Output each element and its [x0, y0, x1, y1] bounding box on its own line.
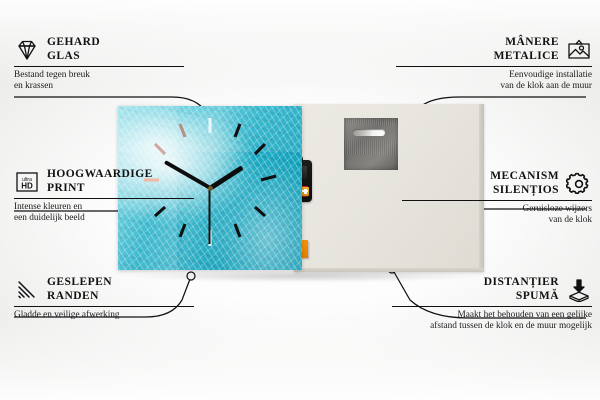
metal-hanger-plate [344, 118, 398, 170]
feature-desc-line2: van de klok [402, 215, 592, 226]
feature-desc-line1: Maakt het behouden van een gelijke [392, 310, 592, 321]
feature-desc-line1: Eenvoudige installatie [396, 70, 592, 81]
feature-description: Gladde en veilige afwerking [14, 310, 194, 321]
feature-header: MÂNERE METALICE [396, 36, 592, 63]
feature-title: HOOGWAARDIGE PRINT [47, 168, 153, 195]
feature-title-line1: GESLEPEN [47, 276, 112, 290]
feature-title: MÂNERE METALICE [494, 36, 559, 63]
feature-mecanism-silentios: MECANISM SILENȚIOS Geruisloze wijzers va… [402, 170, 592, 227]
feature-divider [396, 66, 592, 67]
feature-desc-line2: een duidelijk beeld [14, 213, 194, 224]
spacer-press-icon [566, 278, 592, 302]
feature-description: Maakt het behouden van een gelijke afsta… [392, 310, 592, 333]
feature-divider [14, 306, 194, 307]
feature-title-line2: SILENȚIOS [490, 184, 559, 198]
feature-divider [14, 198, 194, 199]
feature-divider [14, 66, 184, 67]
feature-title-line2: PRINT [47, 182, 153, 196]
feature-desc-line2: afstand tussen de klok en de muur mogeli… [392, 321, 592, 332]
feature-header: MECANISM SILENȚIOS [402, 170, 592, 197]
feature-desc-line2: en krassen [14, 81, 184, 92]
feature-desc-line1: Geruisloze wijzers [402, 204, 592, 215]
picture-frame-icon [566, 38, 592, 62]
feature-title-line1: DISTANȚIER [484, 276, 559, 290]
feature-title-line2: RANDEN [47, 290, 112, 304]
feature-title: DISTANȚIER SPUMĂ [484, 276, 559, 303]
infographic-canvas: GEHARD GLAS Bestand tegen breuk en krass… [0, 0, 600, 400]
feature-gehard-glas: GEHARD GLAS Bestand tegen breuk en krass… [14, 36, 184, 93]
feature-header: GEHARD GLAS [14, 36, 184, 63]
bevelled-edges-icon [14, 278, 40, 302]
feature-title-line1: MÂNERE [494, 36, 559, 50]
feature-header: ultra HD HOOGWAARDIGE PRINT [14, 168, 194, 195]
feature-desc-line2: van de klok aan de muur [396, 81, 592, 92]
feature-title-line1: MECANISM [490, 170, 559, 184]
feature-title-line2: GLAS [47, 50, 100, 64]
feature-description: Intense kleuren en een duidelijk beeld [14, 202, 194, 225]
gear-icon [566, 172, 592, 196]
feature-distantier-spuma: DISTANȚIER SPUMĂ Maakt het behouden van … [392, 276, 592, 333]
feature-manere-metalice: MÂNERE METALICE Eenvoudige installatie v… [396, 36, 592, 93]
feature-description: Eenvoudige installatie van de klok aan d… [396, 70, 592, 93]
feature-divider [392, 306, 592, 307]
hanger-slot [353, 129, 385, 136]
feature-divider [402, 200, 592, 201]
feature-description: Bestand tegen breuk en krassen [14, 70, 184, 93]
feature-desc-line1: Intense kleuren en [14, 202, 194, 213]
feature-title: GESLEPEN RANDEN [47, 276, 112, 303]
feature-title-line1: GEHARD [47, 36, 100, 50]
feature-header: DISTANȚIER SPUMĂ [392, 276, 592, 303]
clock-center-pin [208, 186, 213, 191]
feature-title-line2: SPUMĂ [484, 290, 559, 304]
battery-terminal-mark-h [301, 190, 308, 192]
feature-title: MECANISM SILENȚIOS [490, 170, 559, 197]
feature-desc-line1: Gladde en veilige afwerking [14, 310, 194, 321]
feature-desc-line1: Bestand tegen breuk [14, 70, 184, 81]
feature-title: GEHARD GLAS [47, 36, 100, 63]
feature-title-line2: METALICE [494, 50, 559, 64]
feature-description: Geruisloze wijzers van de klok [402, 204, 592, 227]
feature-header: GESLEPEN RANDEN [14, 276, 194, 303]
feature-hoogwaardige-print: ultra HD HOOGWAARDIGE PRINT Intense kleu… [14, 168, 194, 225]
feature-geslepen-randen: GESLEPEN RANDEN Gladde en veilige afwerk… [14, 276, 194, 321]
ultra-hd-icon: ultra HD [14, 170, 40, 194]
panel-bottom-edge [294, 268, 484, 272]
feature-title-line1: HOOGWAARDIGE [47, 168, 153, 182]
diamond-icon [14, 38, 40, 62]
svg-text:HD: HD [21, 181, 33, 190]
